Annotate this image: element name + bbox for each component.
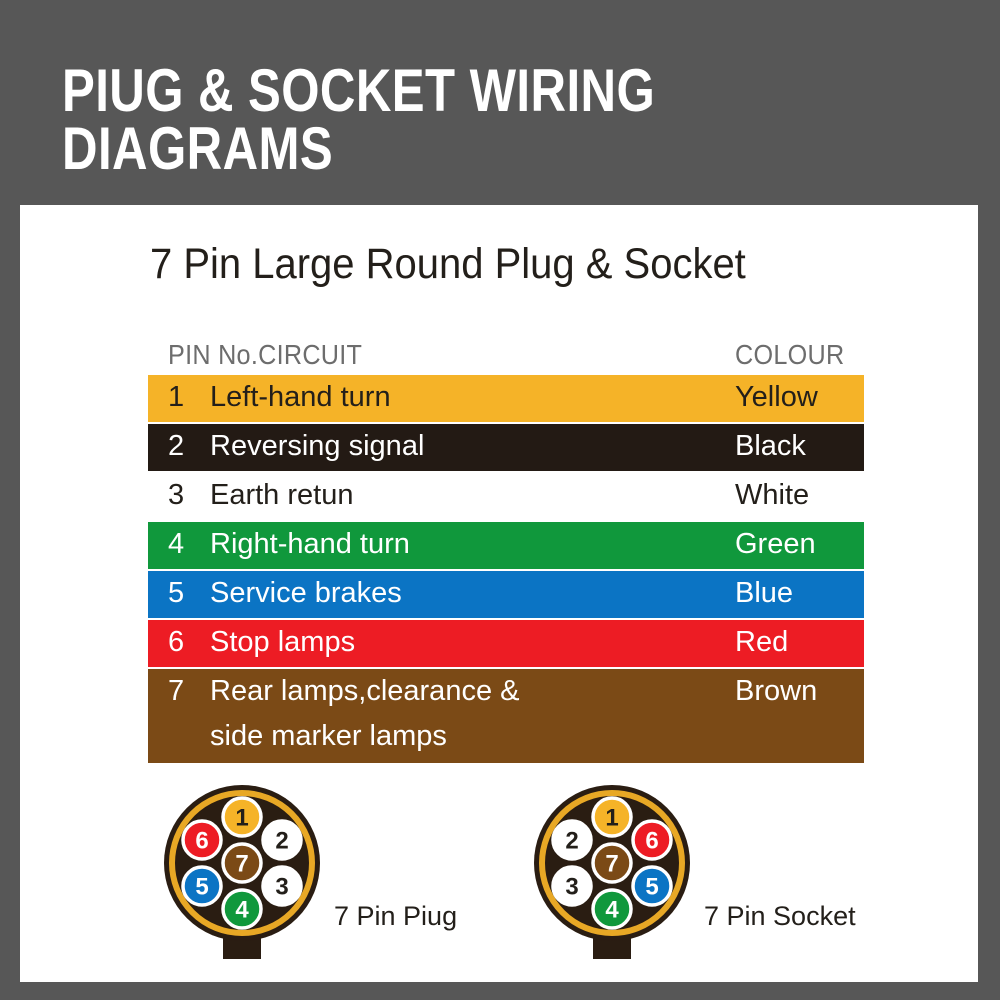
page-title: PIUG & SOCKET WIRING DIAGRAMS — [62, 62, 685, 178]
plug-connector: 12345677 Pin Piug — [162, 783, 322, 965]
plug-pin-label-4: 4 — [235, 897, 249, 924]
plug-pin-1: 1 — [223, 798, 261, 836]
plug-pin-4: 4 — [223, 890, 261, 928]
plug-pin-5: 5 — [183, 867, 221, 905]
plug-pin-2: 2 — [263, 821, 301, 859]
diagram-card: 7 Pin Large Round Plug & Socket PIN No.C… — [20, 205, 978, 982]
socket-pin-3: 3 — [553, 867, 591, 905]
cell-pin-number: 3 — [168, 473, 204, 518]
cell-circuit-name: Reversing signal — [210, 424, 730, 469]
cell-pin-number: 1 — [168, 375, 204, 420]
plug-connector-graphic: 1234567 — [162, 783, 322, 965]
socket-pin-2: 2 — [553, 821, 591, 859]
cell-circuit-name: Left-hand turn — [210, 375, 730, 420]
cell-pin-number: 7 — [168, 669, 204, 714]
socket-pin-label-1: 1 — [605, 805, 618, 832]
cell-circuit-name: Service brakes — [210, 571, 730, 616]
socket-pin-label-3: 3 — [565, 874, 578, 901]
socket-pin-5: 5 — [633, 867, 671, 905]
socket-pin-label-4: 4 — [605, 897, 619, 924]
socket-connector: 12345677 Pin Socket — [532, 783, 692, 965]
cell-pin-number: 6 — [168, 620, 204, 665]
table-row: 5Service brakesBlue — [148, 571, 864, 618]
socket-pin-7: 7 — [593, 844, 631, 882]
cell-wire-colour: Red — [735, 620, 865, 665]
column-header-circuit: PIN No.CIRCUIT — [168, 339, 362, 371]
plug-pin-3: 3 — [263, 867, 301, 905]
table-row: 6Stop lampsRed — [148, 620, 864, 667]
plug-pin-label-3: 3 — [275, 874, 288, 901]
socket-pin-label-6: 6 — [645, 828, 658, 855]
plug-pin-label-6: 6 — [195, 828, 208, 855]
column-header-colour: COLOUR — [735, 339, 844, 371]
pin-table: PIN No.CIRCUIT COLOUR 1Left-hand turnYel… — [148, 335, 864, 765]
cell-pin-number: 2 — [168, 424, 204, 469]
cell-circuit-name: Earth retun — [210, 473, 730, 518]
cell-wire-colour: Blue — [735, 571, 865, 616]
table-row: 3Earth retunWhite — [148, 473, 864, 520]
plug-pin-label-1: 1 — [235, 805, 248, 832]
table-row: 1Left-hand turnYellow — [148, 375, 864, 422]
cell-wire-colour: Yellow — [735, 375, 865, 420]
socket-pin-4: 4 — [593, 890, 631, 928]
table-body: 1Left-hand turnYellow2Reversing signalBl… — [148, 375, 864, 763]
plug-pin-7: 7 — [223, 844, 261, 882]
cell-wire-colour: Black — [735, 424, 865, 469]
socket-pin-1: 1 — [593, 798, 631, 836]
socket-label: 7 Pin Socket — [704, 901, 856, 932]
socket-pin-label-2: 2 — [565, 828, 578, 855]
cell-wire-colour: White — [735, 473, 865, 518]
cell-pin-number: 5 — [168, 571, 204, 616]
socket-pin-6: 6 — [633, 821, 671, 859]
table-row: 4Right-hand turnGreen — [148, 522, 864, 569]
cell-circuit-name: Rear lamps,clearance & side marker lamps — [210, 669, 730, 759]
socket-connector-graphic: 1234567 — [532, 783, 692, 965]
plug-pin-label-7: 7 — [235, 851, 248, 878]
cell-pin-number: 4 — [168, 522, 204, 567]
cell-wire-colour: Green — [735, 522, 865, 567]
socket-pin-label-7: 7 — [605, 851, 618, 878]
plug-label: 7 Pin Piug — [334, 901, 457, 932]
table-header-row: PIN No.CIRCUIT COLOUR — [148, 335, 864, 375]
cell-circuit-name: Right-hand turn — [210, 522, 730, 567]
cell-wire-colour: Brown — [735, 669, 865, 714]
socket-pin-label-5: 5 — [645, 874, 658, 901]
plug-pin-label-5: 5 — [195, 874, 208, 901]
wiring-diagram-page: PIUG & SOCKET WIRING DIAGRAMS 7 Pin Larg… — [0, 0, 1000, 1000]
table-row: 7Rear lamps,clearance & side marker lamp… — [148, 669, 864, 763]
card-title: 7 Pin Large Round Plug & Socket — [150, 241, 838, 287]
plug-pin-label-2: 2 — [275, 828, 288, 855]
table-row: 2Reversing signalBlack — [148, 424, 864, 471]
cell-circuit-name: Stop lamps — [210, 620, 730, 665]
plug-pin-6: 6 — [183, 821, 221, 859]
